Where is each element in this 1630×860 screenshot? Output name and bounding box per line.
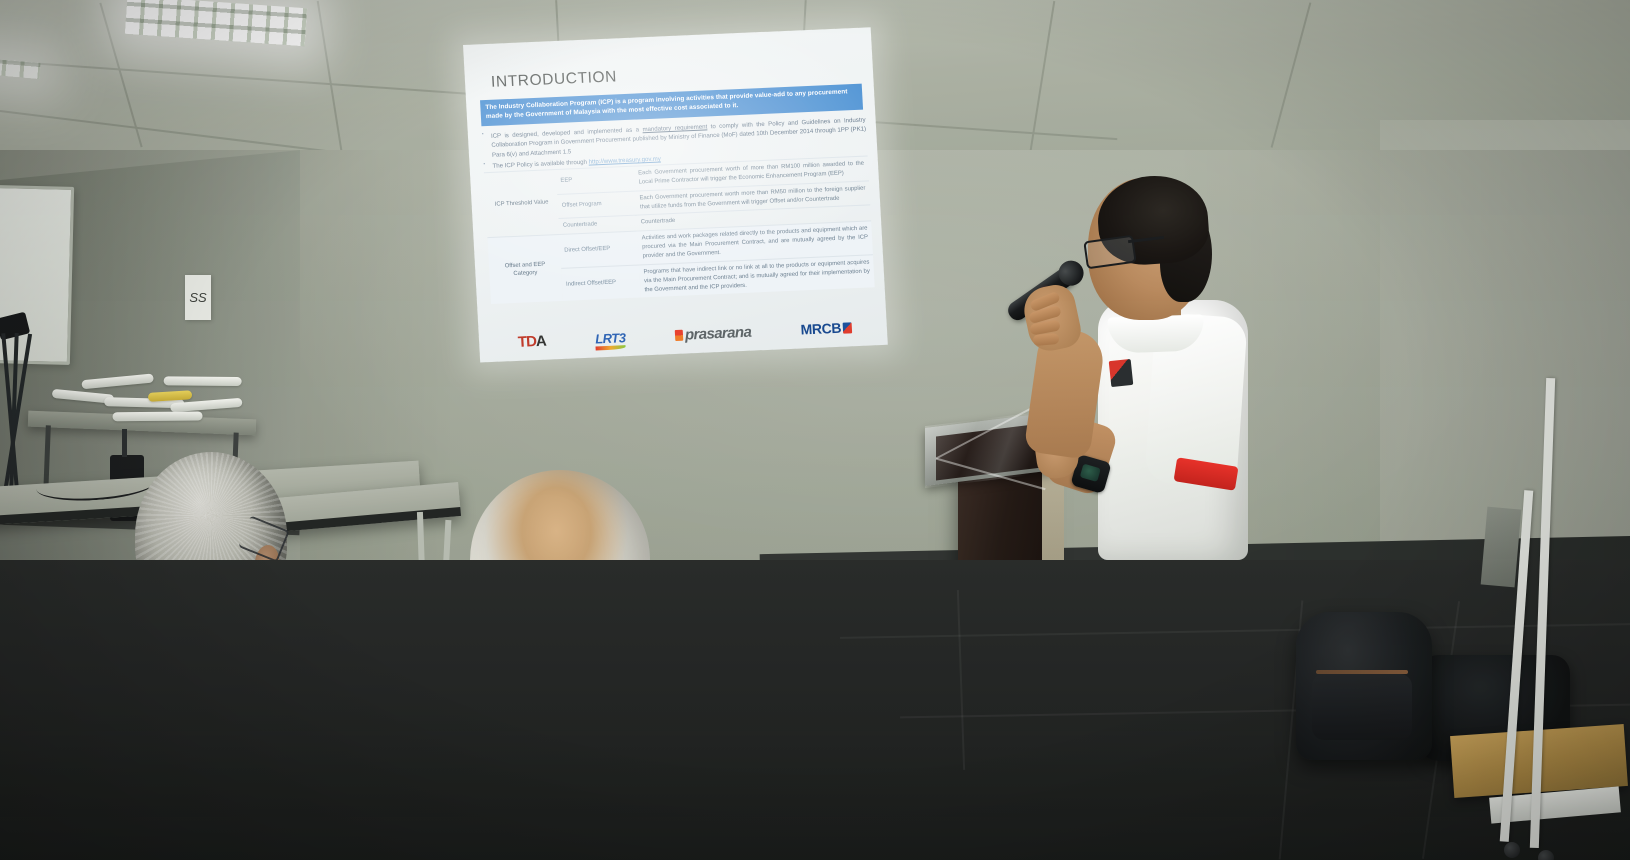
tda-logo-suffix: A xyxy=(535,332,546,349)
mrcb-logo: MRCB xyxy=(800,319,852,337)
bullet-1-underlined: mandatory requirement xyxy=(642,123,707,133)
floor-tile-line xyxy=(957,590,965,770)
prasarana-logo-text: prasarana xyxy=(684,323,751,343)
flipchart-stand xyxy=(1476,508,1596,858)
row-category-threshold: ICP Threshold Value xyxy=(484,170,559,238)
lrt3-logo-text: LRT3 xyxy=(595,330,626,346)
presentation-room-photo: INTRODUCTION The Industry Collaboration … xyxy=(0,0,1630,860)
tda-logo-prefix: TD xyxy=(517,333,536,351)
tripod-stand xyxy=(0,315,46,495)
mrcb-mark-icon xyxy=(843,322,853,333)
rolled-paper xyxy=(113,411,203,421)
slide-title: INTRODUCTION xyxy=(491,68,618,91)
tda-logo: TDA xyxy=(517,332,546,350)
icp-criteria-table: ICP Threshold Value EEP Each Government … xyxy=(484,155,875,304)
prasarana-mark-icon xyxy=(675,329,684,340)
lrt3-logo: LRT3 xyxy=(595,330,626,346)
mrcb-logo-text: MRCB xyxy=(800,320,841,338)
row-sub-eep: EEP xyxy=(556,166,635,194)
projected-slide: INTRODUCTION The Industry Collaboration … xyxy=(463,27,888,362)
flipchart-wheel xyxy=(1504,842,1520,858)
flipchart-wheel xyxy=(1538,850,1554,860)
row-category-offset-eep: Offset and EEP Category xyxy=(487,235,563,305)
row-sub-offset: Offset Program xyxy=(557,191,636,219)
flipchart-clamp xyxy=(1481,507,1522,588)
room-sign: SS xyxy=(185,275,211,320)
rolled-paper xyxy=(81,373,154,389)
rolled-paper-yellow xyxy=(148,390,192,402)
rolled-materials-pile xyxy=(51,365,252,424)
rolled-paper xyxy=(164,376,242,386)
prasarana-logo: prasarana xyxy=(674,323,751,343)
luggage-handle xyxy=(122,429,127,457)
backpack-front-pocket xyxy=(1312,674,1412,740)
presenter-shirt-logo xyxy=(1109,359,1134,387)
backpack xyxy=(1296,612,1432,760)
row-sub-direct: Direct Offset/EEP xyxy=(559,231,639,268)
row-sub-indirect: Indirect Offset/EEP xyxy=(561,265,641,301)
lrt3-swoosh-icon xyxy=(596,345,626,350)
